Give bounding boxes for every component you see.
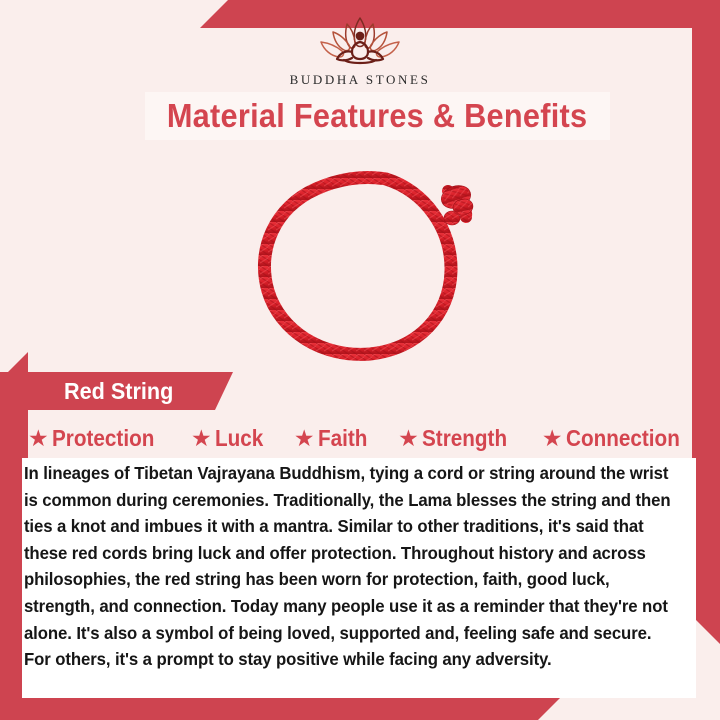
- feature-item-faith: ★ Faith: [294, 425, 373, 452]
- feature-item-strength: ★ Strength: [398, 425, 516, 452]
- feature-item-connection: ★ Connection: [542, 425, 692, 452]
- feature-label: Protection: [52, 425, 154, 452]
- star-icon: ★: [191, 427, 212, 450]
- feature-label: Strength: [422, 425, 507, 452]
- product-image-area: [0, 145, 720, 380]
- description-panel: In lineages of Tibetan Vajrayana Buddhis…: [22, 458, 696, 698]
- feature-label: Connection: [566, 425, 680, 452]
- feature-item-protection: ★ Protection: [28, 425, 165, 452]
- red-braided-string-bracelet-icon: [220, 145, 500, 375]
- feature-label: Luck: [215, 425, 263, 452]
- infographic-page: BUDDHA STONES Material Features & Benefi…: [0, 0, 720, 720]
- page-title: Material Features & Benefits: [167, 97, 588, 135]
- feature-item-luck: ★ Luck: [191, 425, 268, 452]
- brand-logo: BUDDHA STONES: [0, 12, 720, 88]
- feature-label: Faith: [318, 425, 367, 452]
- star-icon: ★: [294, 427, 315, 450]
- product-name-label: Red String: [64, 378, 173, 405]
- feature-list: ★ Protection ★ Luck ★ Faith ★ Strength ★…: [28, 420, 692, 456]
- star-icon: ★: [542, 427, 563, 450]
- star-icon: ★: [398, 427, 419, 450]
- brand-wordmark: BUDDHA STONES: [0, 72, 720, 88]
- star-icon: ★: [28, 427, 49, 450]
- product-name-ribbon: Red String: [0, 372, 233, 410]
- title-band: Material Features & Benefits: [145, 92, 610, 140]
- description-text: In lineages of Tibetan Vajrayana Buddhis…: [22, 458, 679, 673]
- lotus-meditation-icon: [300, 12, 420, 70]
